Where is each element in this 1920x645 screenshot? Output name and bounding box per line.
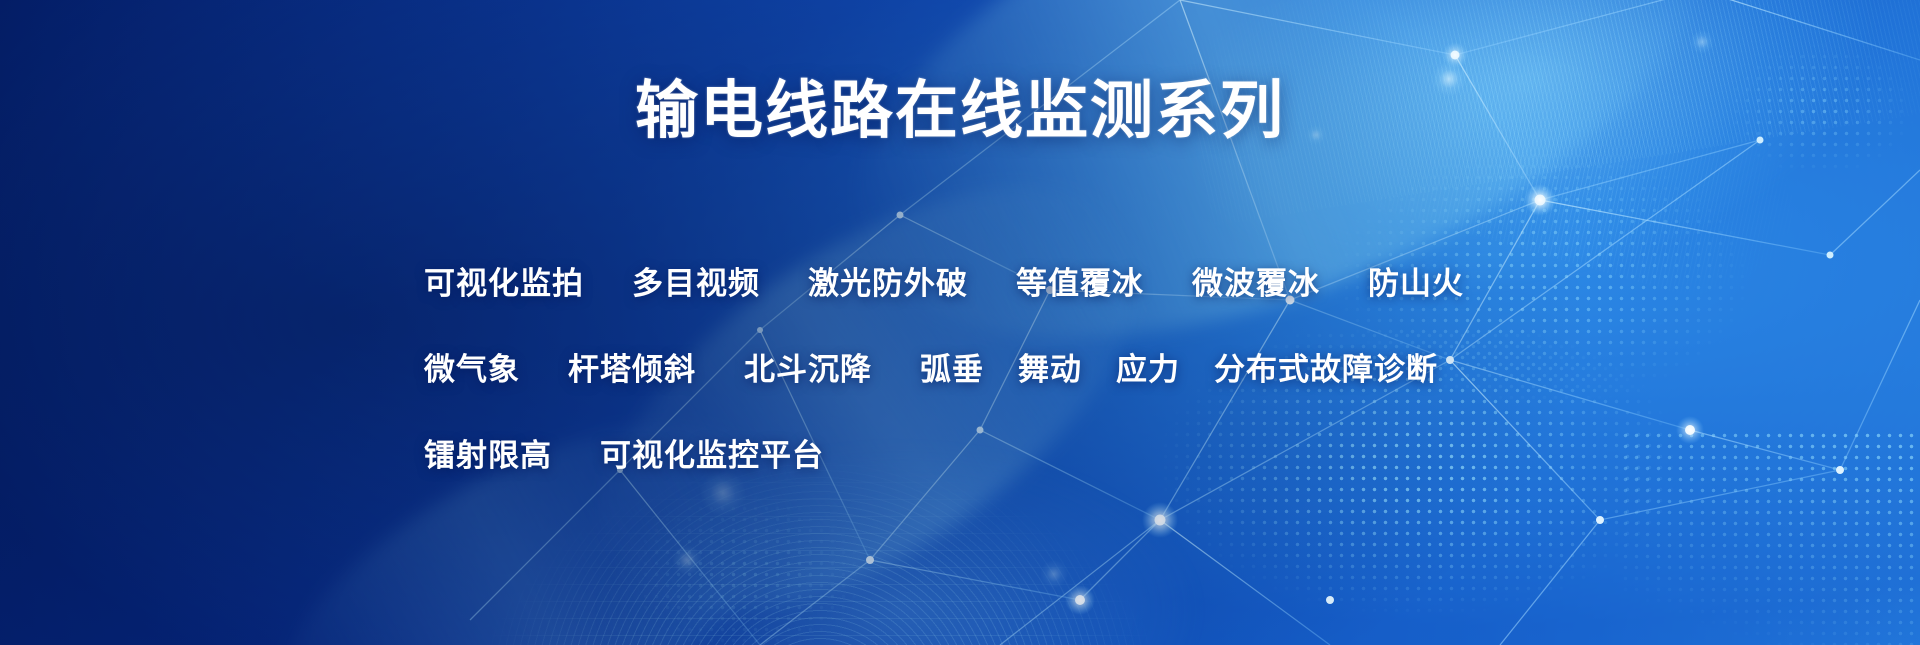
banner-content: 输电线路在线监测系列 可视化监拍 多目视频 激光防外破 等值覆冰 微波覆冰 防山…	[0, 0, 1920, 645]
product-tag[interactable]: 多目视频	[632, 258, 760, 303]
product-tag[interactable]: 微波覆冰	[1192, 258, 1320, 303]
product-tag[interactable]: 激光防外破	[808, 258, 968, 303]
product-tag-list: 可视化监拍 多目视频 激光防外破 等值覆冰 微波覆冰 防山火 微气象 杆塔倾斜 …	[424, 258, 1464, 516]
tag-row: 微气象 杆塔倾斜 北斗沉降 弧垂 舞动 应力 分布式故障诊断	[424, 344, 1464, 430]
product-tag[interactable]: 可视化监控平台	[600, 430, 824, 475]
product-tag[interactable]: 可视化监拍	[424, 258, 584, 303]
tag-row: 镭射限高 可视化监控平台	[424, 430, 1464, 516]
product-tag[interactable]: 舞动	[1018, 344, 1082, 389]
product-tag[interactable]: 防山火	[1368, 258, 1464, 303]
product-series-banner: 输电线路在线监测系列 可视化监拍 多目视频 激光防外破 等值覆冰 微波覆冰 防山…	[0, 0, 1920, 645]
product-tag[interactable]: 镭射限高	[424, 430, 552, 475]
product-tag[interactable]: 杆塔倾斜	[568, 344, 696, 389]
product-tag[interactable]: 弧垂	[920, 344, 984, 389]
banner-title: 输电线路在线监测系列	[0, 78, 1920, 144]
product-tag[interactable]: 等值覆冰	[1016, 258, 1144, 303]
tag-row: 可视化监拍 多目视频 激光防外破 等值覆冰 微波覆冰 防山火	[424, 258, 1464, 344]
product-tag[interactable]: 北斗沉降	[744, 344, 872, 389]
product-tag[interactable]: 应力	[1116, 344, 1180, 389]
product-tag[interactable]: 微气象	[424, 344, 520, 389]
product-tag[interactable]: 分布式故障诊断	[1214, 344, 1438, 389]
